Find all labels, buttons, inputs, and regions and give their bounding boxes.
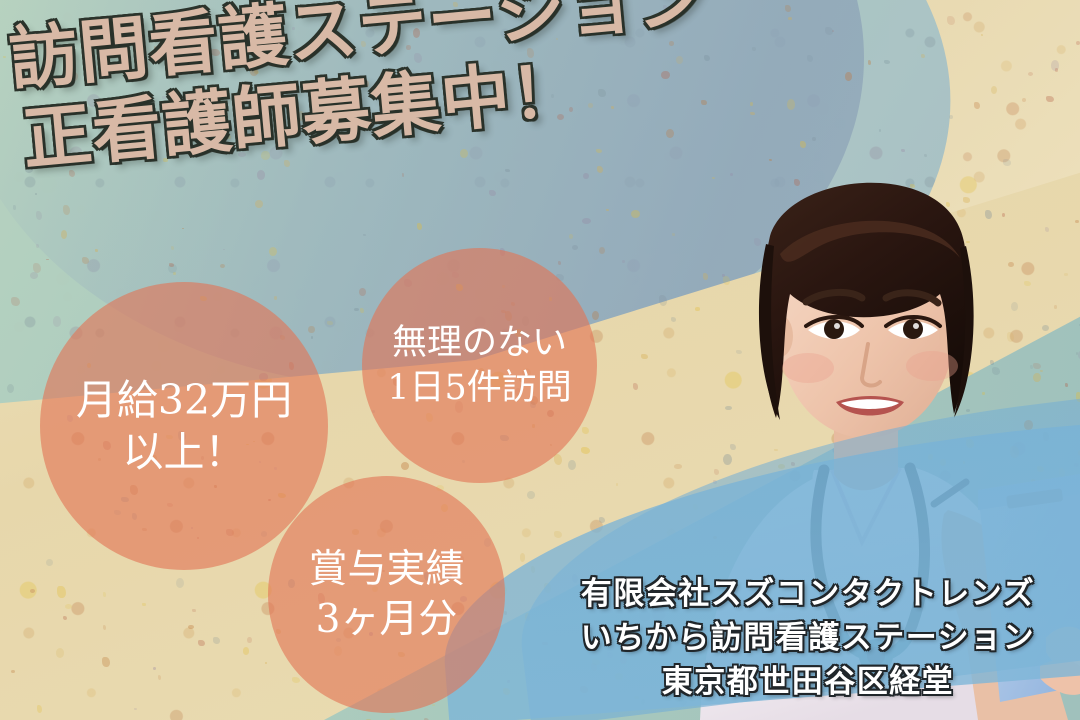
badge-visits-line-2: 1日5件訪問 (387, 366, 572, 411)
badge-bonus: 賞与実績 3ヶ月分 (268, 476, 505, 713)
company-name: 有限会社スズコンタクトレンズ (548, 572, 1068, 616)
badge-bonus-line-1: 賞与実績 (308, 545, 464, 595)
poster-canvas: 訪問看護ステーション 正看護師募集中！ 月給32万円 以上！ 無理のない 1日5… (0, 0, 1080, 720)
company-info: 有限会社スズコンタクトレンズ いちから訪問看護ステーション 東京都世田谷区経堂 (548, 572, 1068, 704)
badge-visits: 無理のない 1日5件訪問 (362, 248, 597, 483)
station-name: いちから訪問看護ステーション (548, 616, 1068, 660)
badge-salary: 月給32万円 以上！ (40, 282, 328, 570)
badge-salary-line-2: 以上！ (123, 426, 246, 478)
badge-bonus-line-2: 3ヶ月分 (316, 595, 458, 645)
badge-visits-line-1: 無理のない (392, 321, 567, 366)
badge-salary-line-1: 月給32万円 (76, 374, 292, 426)
company-address: 東京都世田谷区経堂 (548, 660, 1068, 704)
